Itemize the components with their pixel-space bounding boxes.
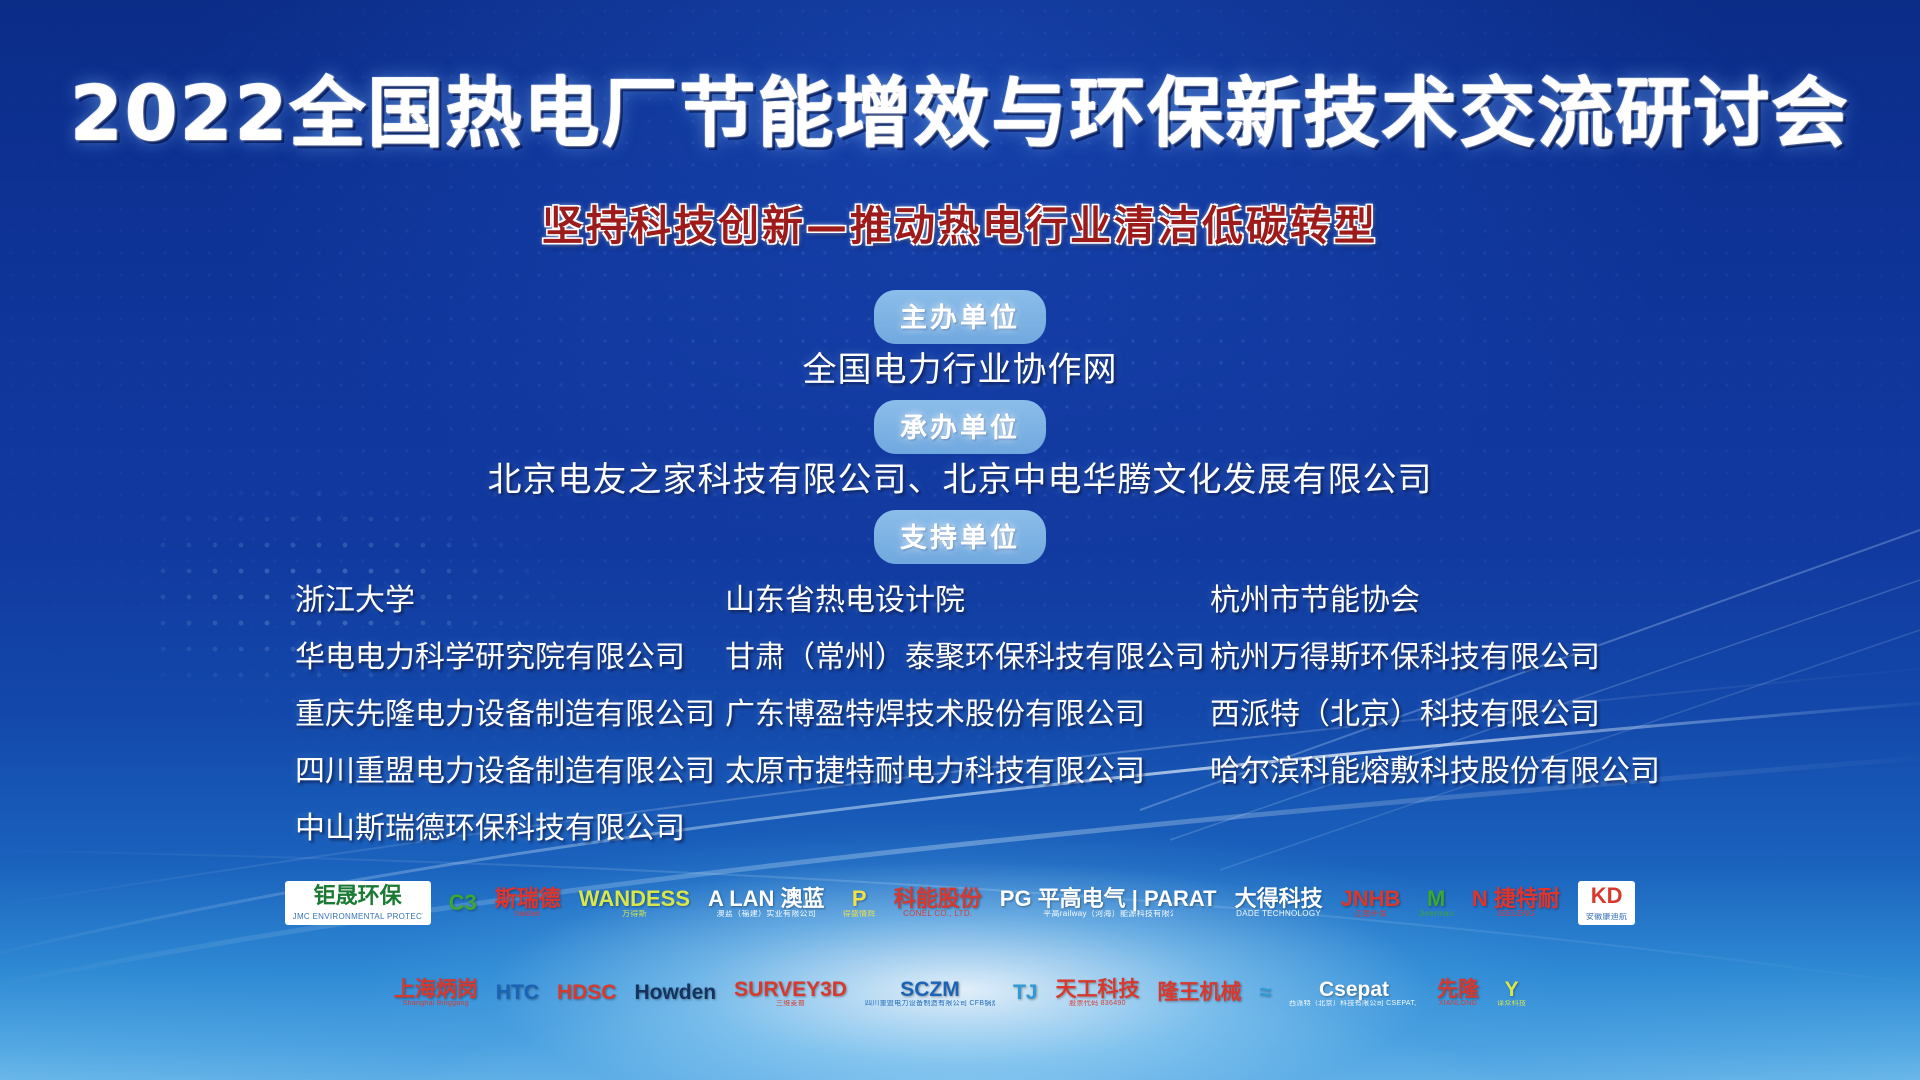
sponsor-logo-subtext: 万得斯: [622, 910, 647, 918]
sponsor-logo-mark: 天工科技: [1055, 979, 1139, 1000]
sponsor-logo-mark: SCZM: [900, 979, 960, 1000]
sponsor-logo-subtext: 三维麦普: [776, 1000, 805, 1007]
sponsor-logo-htc: HTC: [496, 982, 539, 1003]
sponsor-logo-subtext: Shanghai Binggang: [403, 1000, 469, 1007]
supporters-grid: 浙江大学山东省热电设计院杭州市节能协会华电电力科学研究院有限公司甘肃（常州）泰聚…: [295, 572, 1655, 857]
supporter-name: 哈尔滨科能熔敷科技股份有限公司: [1210, 743, 1660, 800]
sponsor-logo-subtext: 四川重盟电力设备制造有限公司 CFB锅炉分辐射系统专业改造集成商: [865, 1000, 995, 1007]
host-pill-label: 主办单位: [874, 290, 1046, 344]
sponsor-logo-pinggao-parat: PG 平高电气 | PARAT平高railway（河海）能源科技有限公司 PIN…: [1000, 888, 1217, 919]
sponsor-logo-shanghai-binggang: 上海炳岗Shanghai Binggang: [394, 979, 478, 1008]
sponsor-logo-tiangong-keji: 天工科技股票代码 836490: [1055, 979, 1139, 1008]
banner-stage: 2022全国热电厂节能增效与环保新技术交流研讨会 坚持科技创新—推动热电行业清洁…: [0, 0, 1920, 1080]
sponsor-logo-mark: 斯瑞德: [495, 888, 561, 910]
host-value: 全国电力行业协作网: [0, 342, 1920, 391]
supporter-name: 华电电力科学研究院有限公司: [295, 629, 725, 686]
sponsor-logo-mark: N 捷特耐: [1472, 888, 1560, 910]
supporters-pill-label: 支持单位: [874, 510, 1046, 564]
sponsor-logo-mark: SURVEY3D: [734, 979, 847, 1000]
sponsor-logo-subtext: 澳蓝（福建）实业有限公司: [717, 910, 817, 918]
sponsor-logo-mark: A LAN 澳蓝: [708, 888, 825, 910]
sponsor-logo-siruide-haiden: 斯瑞德haiden: [495, 888, 561, 919]
sponsor-logo-dade-keji: 大得科技DADE TECHNOLOGY: [1235, 888, 1323, 919]
sponsor-logo-subtext: CONEL CO., LTD.: [903, 910, 972, 918]
sponsor-logo-mark: M: [1427, 888, 1445, 910]
sponsor-logo-mark: 钜晟环保: [314, 885, 402, 907]
sponsor-logo-subtext: 译众科技: [1497, 1000, 1526, 1007]
sponsor-logo-zezhong-keji: Y译众科技: [1497, 979, 1526, 1008]
sponsor-logo-mark: 大得科技: [1235, 888, 1323, 910]
sponsor-logo-wandess: WANDESS万得斯: [579, 888, 690, 919]
supporter-name: 山东省热电设计院: [725, 572, 1210, 629]
sponsor-logo-conel: 科能股份CONEL CO., LTD.: [894, 888, 982, 919]
supporter-name: 杭州万得斯环保科技有限公司: [1210, 629, 1655, 686]
supporter-name: [725, 800, 1210, 857]
page-title: 2022全国热电厂节能增效与环保新技术交流研讨会: [0, 52, 1920, 162]
sponsor-logo-mark: PG 平高电气 | PARAT: [1000, 888, 1217, 910]
sponsor-logo-tj-mark: TJ: [1013, 982, 1038, 1003]
supporter-name: 太原市捷特耐电力科技有限公司: [725, 743, 1210, 800]
sponsor-logo-mark: TJ: [1013, 982, 1038, 1003]
supporter-name: 杭州市节能协会: [1210, 572, 1655, 629]
supporter-name: 浙江大学: [295, 572, 725, 629]
sponsor-logo-subtext: XIANLONG: [1439, 1000, 1478, 1007]
sponsor-logo-mark: Howden: [634, 982, 716, 1003]
sponsor-logo-jusheng-huanbao: 钜晟环保JMC ENVIRONMENTAL PROTECTION: [285, 881, 431, 925]
sponsor-logo-mark: KD: [1591, 885, 1623, 907]
sponsor-logo-longwang-jixie: 隆王机械: [1157, 982, 1241, 1003]
sponsor-logo-mark: P: [852, 888, 867, 910]
supporter-name: 西派特（北京）科技有限公司: [1210, 686, 1655, 743]
sponsor-logo-a-lan-aolan: A LAN 澳蓝澳蓝（福建）实业有限公司: [708, 888, 825, 919]
sponsor-logo-mark: HDSC: [557, 982, 617, 1003]
supporter-row: 中山斯瑞德环保科技有限公司: [295, 800, 1655, 857]
sponsor-logo-row-1: 钜晟环保JMC ENVIRONMENTAL PROTECTIONC3斯瑞德hai…: [0, 870, 1920, 936]
sponsor-logo-mark: Y: [1505, 979, 1519, 1000]
sponsor-logo-mark: 先隆: [1437, 979, 1479, 1000]
sponsor-logo-water-logo: ≈: [1259, 982, 1271, 1003]
sponsor-logo-mark: JNHB: [1341, 888, 1401, 910]
sponsor-logo-survey3d-sanwei-maipu: SURVEY3D三维麦普: [734, 979, 847, 1008]
sponsor-logo-hdsc: HDSC: [557, 982, 617, 1003]
sponsor-logo-subtext: Jieerman: [1419, 910, 1454, 918]
sponsor-logo-csepat: Csepat西派特（北京）科技有限公司 CSEPAT, Beijing Tech…: [1289, 979, 1419, 1008]
sponsor-logo-xianlong: 先隆XIANLONG: [1437, 979, 1479, 1008]
supporter-name: 中山斯瑞德环保科技有限公司: [295, 800, 725, 857]
sponsor-logo-subtext: 股票代码 836490: [1069, 1000, 1126, 1007]
supporter-row: 四川重盟电力设备制造有限公司太原市捷特耐电力科技有限公司哈尔滨科能熔敷科技股份有…: [295, 743, 1655, 800]
supporter-name: 四川重盟电力设备制造有限公司: [295, 743, 725, 800]
supporter-name: 甘肃（常州）泰聚环保科技有限公司: [725, 629, 1210, 686]
sponsor-logo-mark: 上海炳岗: [394, 979, 478, 1000]
sponsor-logo-subtext: JEELENG: [1497, 910, 1536, 918]
supporter-row: 重庆先隆电力设备制造有限公司广东博盈特焊技术股份有限公司西派特（北京）科技有限公…: [295, 686, 1655, 743]
supporter-name: 重庆先隆电力设备制造有限公司: [295, 686, 725, 743]
sponsor-logo-subtext: 安徽康迪航: [1586, 913, 1628, 921]
sponsor-logo-mark: HTC: [496, 982, 539, 1003]
sponsor-logo-jieerman: MJieerman: [1419, 888, 1454, 919]
sponsor-logo-c3: C3: [449, 892, 477, 914]
supporter-name: [1210, 800, 1655, 857]
sponsor-logo-mark: ≈: [1259, 982, 1271, 1003]
sponsor-logo-mark: WANDESS: [579, 888, 690, 910]
sponsor-logo-subtext: haiden: [515, 910, 541, 918]
sponsor-logo-subtext: 得盛情辉: [843, 910, 876, 918]
sponsor-logo-mark: 科能股份: [894, 888, 982, 910]
sponsor-logo-subtext: 江南环保: [1354, 910, 1387, 918]
sponsor-logo-subtext: DADE TECHNOLOGY: [1236, 910, 1321, 918]
sponsor-logo-mark: C3: [449, 892, 477, 914]
supporter-row: 华电电力科学研究院有限公司甘肃（常州）泰聚环保科技有限公司杭州万得斯环保科技有限…: [295, 629, 1655, 686]
sponsor-logo-subtext: JMC ENVIRONMENTAL PROTECTION: [293, 913, 423, 921]
sponsor-logo-sczm: SCZM四川重盟电力设备制造有限公司 CFB锅炉分辐射系统专业改造集成商: [865, 979, 995, 1008]
sponsor-logo-subtext: 西派特（北京）科技有限公司 CSEPAT, Beijing Technology…: [1289, 1000, 1419, 1007]
supporter-name: 广东博盈特焊技术股份有限公司: [725, 686, 1210, 743]
supporter-row: 浙江大学山东省热电设计院杭州市节能协会: [295, 572, 1655, 629]
sponsor-logo-anhui-kangdihang: KD安徽康迪航: [1578, 881, 1636, 925]
sponsor-logo-howden: Howden: [634, 982, 716, 1003]
page-subtitle: 坚持科技创新—推动热电行业清洁低碳转型: [0, 192, 1920, 252]
sponsor-logo-mark: 隆王机械: [1157, 982, 1241, 1003]
sponsor-logo-subtext: 平高railway（河海）能源科技有限公司 PINGGAO PARAT (HEN…: [1043, 910, 1173, 918]
sponsor-logo-deshengqinghui: P得盛情辉: [843, 888, 876, 919]
sponsor-logo-jiete-nai: N 捷特耐JEELENG: [1472, 888, 1560, 919]
organizer-pill-label: 承办单位: [874, 400, 1046, 454]
organizer-value: 北京电友之家科技有限公司、北京中电华腾文化发展有限公司: [0, 452, 1920, 501]
sponsor-logo-row-2: 上海炳岗Shanghai BinggangHTCHDSCHowdenSURVEY…: [0, 958, 1920, 1028]
sponsor-logo-mark: Csepat: [1319, 979, 1389, 1000]
sponsor-logo-jnhb-jiangnan: JNHB江南环保: [1341, 888, 1401, 919]
